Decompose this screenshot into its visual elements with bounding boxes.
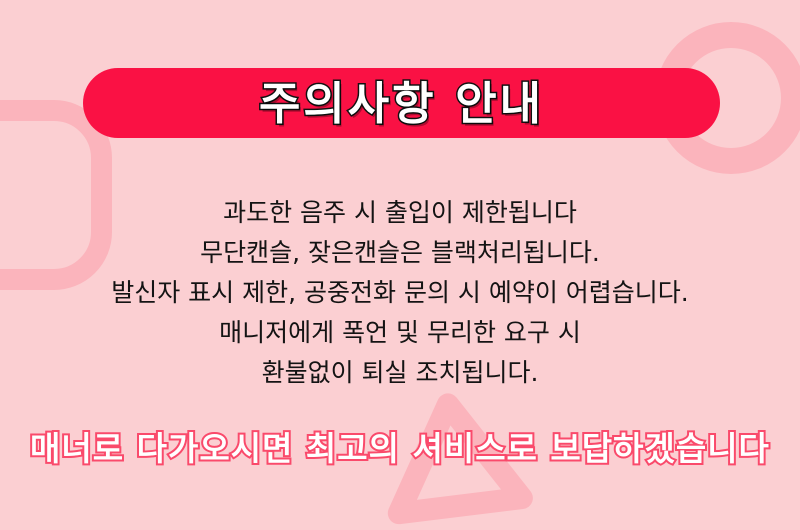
- notice-line: 환불없이 퇴실 조치됩니다.: [0, 353, 800, 393]
- notice-line: 무단캔슬, 잦은캔슬은 블랙처리됩니다.: [0, 233, 800, 273]
- title-banner: 주의사항 안내: [83, 68, 720, 138]
- slogan-text: 매너로 다가오시면 최고의 셔비스로 보답하겠습니다: [0, 428, 800, 469]
- notice-body: 과도한 음주 시 출입이 제한됩니다 무단캔슬, 잦은캔슬은 블랙처리됩니다. …: [0, 193, 800, 393]
- notice-line: 매니저에게 폭언 및 무리한 요구 시: [0, 313, 800, 353]
- footer-slogan: 매너로 다가오시면 최고의 셔비스로 보답하겠습니다: [0, 428, 800, 469]
- notice-line: 발신자 표시 제한, 공중전화 문의 시 예약이 어렵습니다.: [0, 273, 800, 313]
- notice-poster: 주의사항 안내 과도한 음주 시 출입이 제한됩니다 무단캔슬, 잦은캔슬은 블…: [0, 0, 800, 530]
- page-title: 주의사항 안내: [259, 81, 544, 126]
- notice-line: 과도한 음주 시 출입이 제한됩니다: [0, 193, 800, 233]
